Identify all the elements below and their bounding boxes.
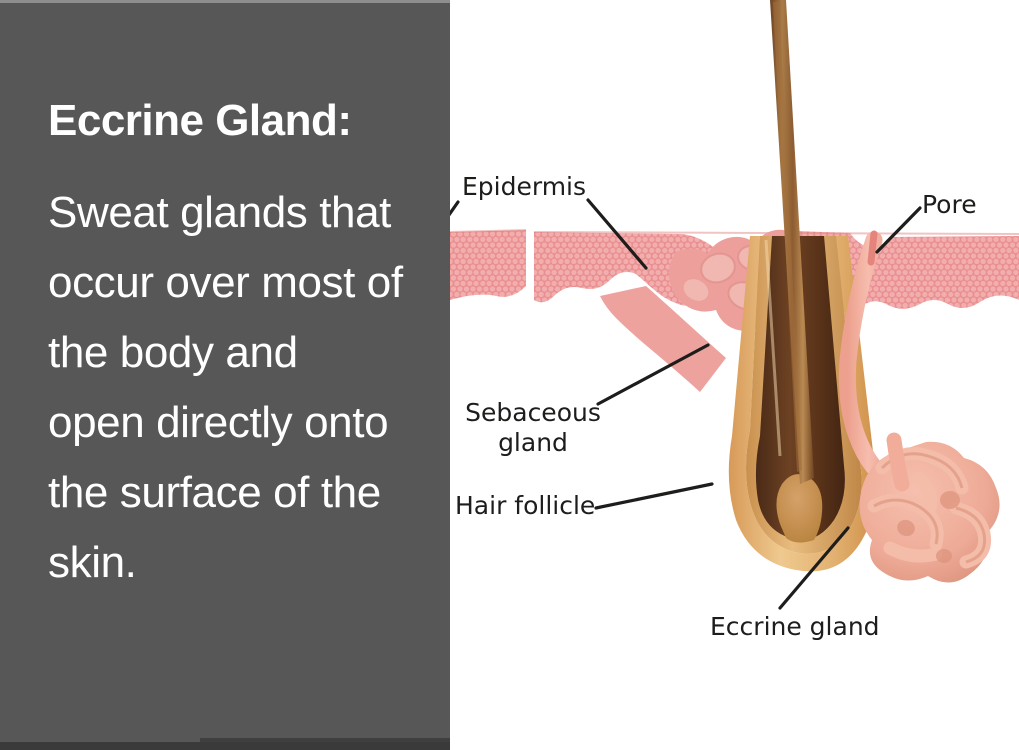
label-hair-follicle: Hair follicle [455, 491, 595, 521]
leader-epidermis-left [450, 202, 458, 222]
leader-hair-follicle [596, 484, 712, 508]
eccrine-coil [860, 440, 1000, 583]
panel-top-hairline [0, 0, 450, 3]
panel-bottom-edge [0, 742, 450, 750]
label-sebaceous-gland: Sebaceous gland [458, 398, 608, 458]
slide-root: Eccrine Gland: Sweat glands that occur o… [0, 0, 1019, 750]
label-pore: Pore [922, 190, 977, 220]
label-eccrine-gland: Eccrine gland [710, 612, 880, 642]
skin-cross-section-diagram: Epidermis Pore Sebaceous gland Hair foll… [450, 0, 1019, 750]
page-title: Eccrine Gland: [48, 93, 428, 149]
label-epidermis: Epidermis [462, 172, 586, 202]
body-paragraph: Sweat glands that occur over most of the… [48, 178, 404, 598]
text-panel: Eccrine Gland: Sweat glands that occur o… [0, 0, 450, 742]
